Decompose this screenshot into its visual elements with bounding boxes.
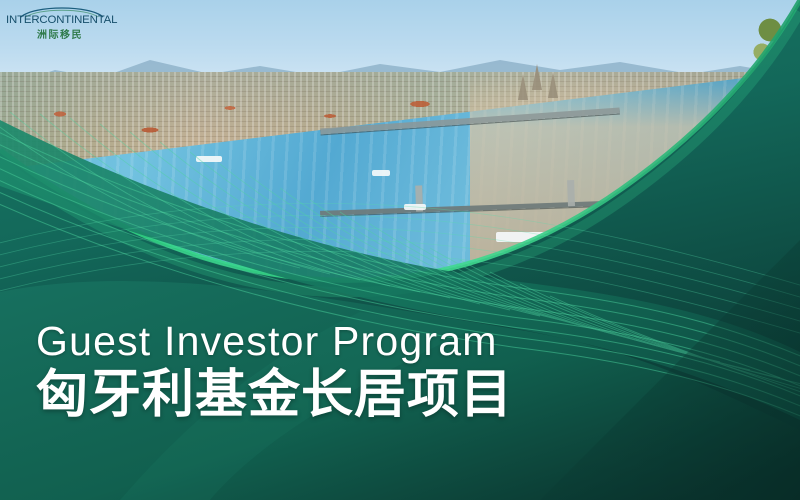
green-graphic-overlay — [0, 0, 800, 500]
promo-banner: INTERCONTINENTAL 洲际移民 Guest Investor Pro… — [0, 0, 800, 500]
logo-wordmark: INTERCONTINENTAL — [6, 14, 114, 26]
logo-chinese-name: 洲际移民 — [6, 26, 114, 41]
headline-chinese: 匈牙利基金长居项目 — [36, 367, 513, 423]
headline-block: Guest Investor Program 匈牙利基金长居项目 — [36, 320, 513, 423]
company-logo[interactable]: INTERCONTINENTAL 洲际移民 — [6, 4, 114, 38]
headline-english: Guest Investor Program — [36, 320, 513, 363]
